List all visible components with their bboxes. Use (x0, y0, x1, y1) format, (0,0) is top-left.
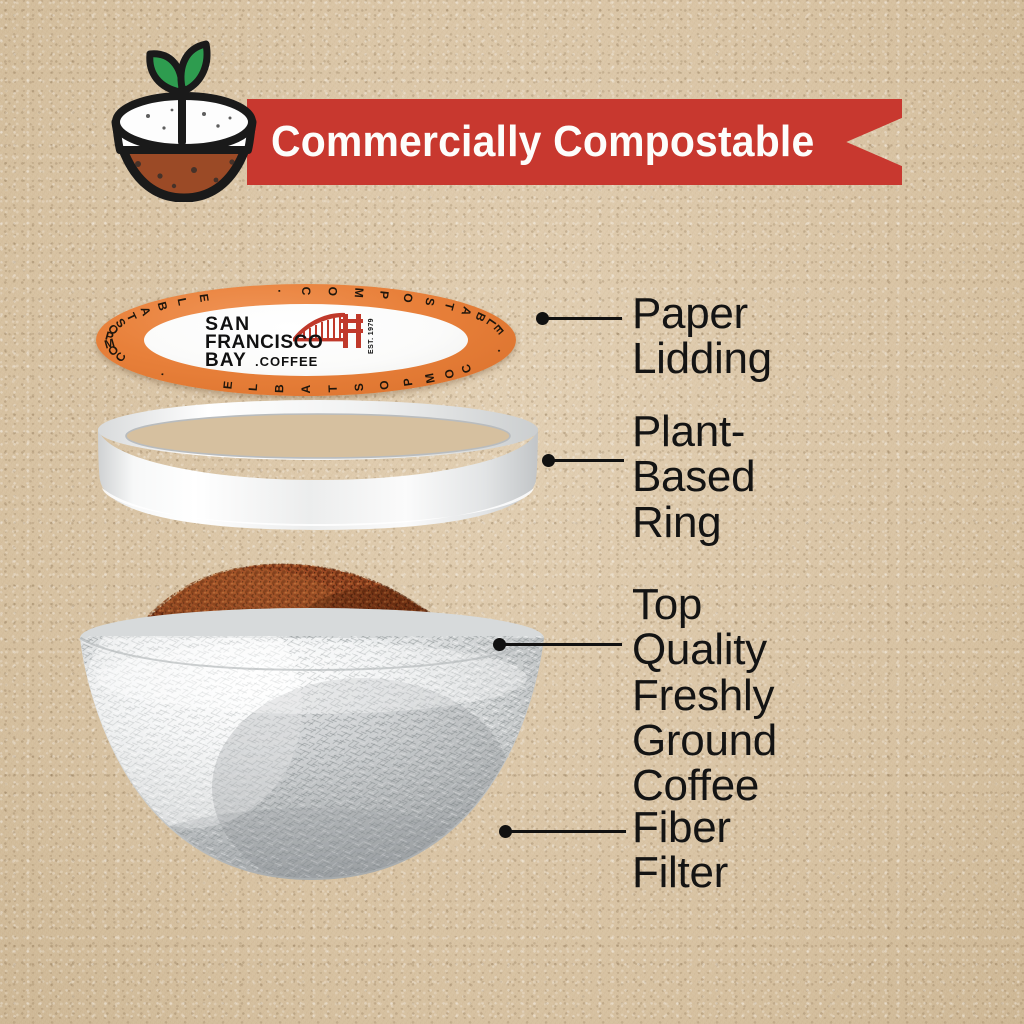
banner-title: Commercially Compostable (271, 99, 778, 185)
sprout-leaf-right-icon (181, 44, 207, 90)
plant-based-ring-component (92, 396, 544, 536)
sprout-in-pod-icon (108, 30, 260, 202)
compostable-banner: Commercially Compostable (247, 99, 902, 185)
leader-line-fiber-filter (509, 830, 626, 833)
logo-coffee-suffix: .COFFEE (255, 354, 318, 369)
logo-established-text: EST. 1979 (368, 318, 375, 354)
paper-lidding-component: COMPOSTABLE · COMPOSTABLE · COMPOSTABLE … (96, 284, 516, 396)
sprout-leaf-left-icon (150, 54, 182, 92)
sf-bay-coffee-logo: EST. 1979 SAN FRANCISCO BAY .COFFEE (197, 310, 415, 370)
callout-label-plant-based-ring: Plant-Based Ring (632, 409, 755, 545)
logo-line-bay: BAY (205, 350, 247, 370)
callout-label-ground-coffee: Top Quality Freshly Ground Coffee (632, 582, 777, 809)
leader-line-paper-lidding (546, 317, 622, 320)
filter-and-coffee-component (62, 558, 562, 888)
callout-label-fiber-filter: Fiber Filter (632, 805, 731, 896)
fiber-filter-bowl (62, 588, 562, 888)
leader-line-plant-based-ring (552, 459, 624, 462)
callout-label-paper-lidding: Paper Lidding (632, 291, 772, 382)
leader-line-ground-coffee (503, 643, 622, 646)
